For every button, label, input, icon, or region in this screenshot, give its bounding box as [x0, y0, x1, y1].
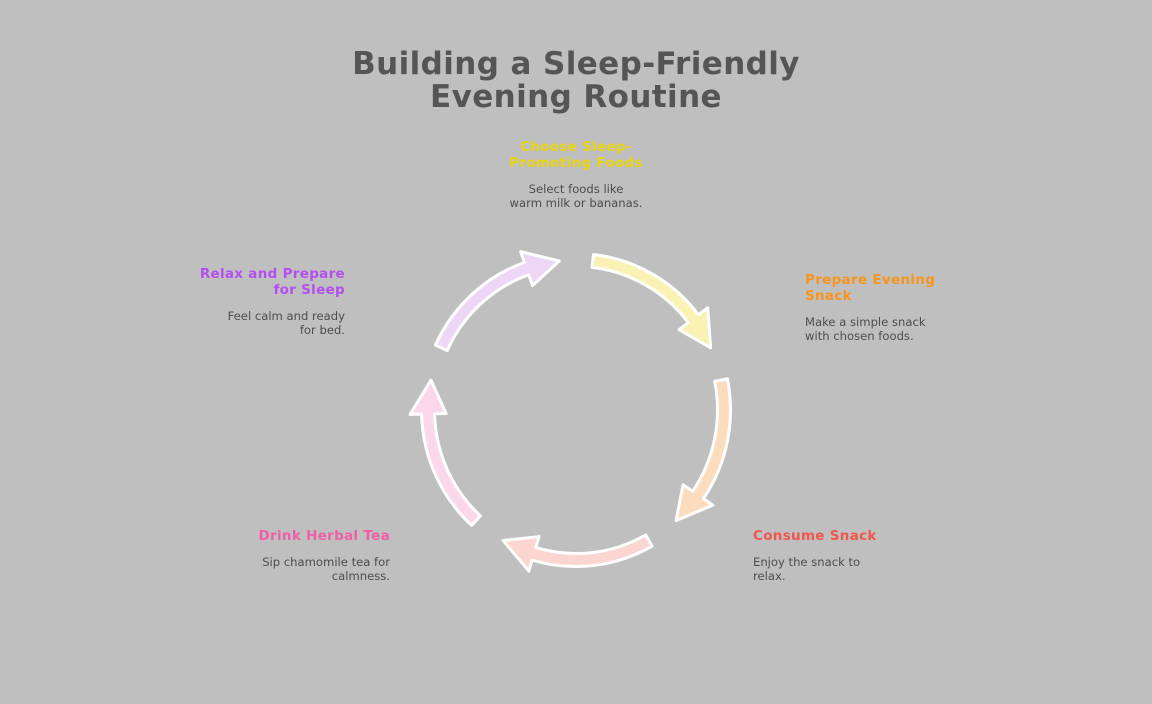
arrow-group — [410, 252, 730, 571]
node-description: Sip chamomile tea for calmness. — [185, 555, 390, 583]
cycle-arrow-drink-herbal-tea — [410, 380, 480, 525]
cycle-arrow-choose-foods — [592, 255, 711, 348]
node-title: Relax and Prepare for Sleep — [155, 267, 345, 299]
cycle-node-choose-foods[interactable]: Choose Sleep- Promoting Foods Select foo… — [466, 140, 686, 210]
node-title: Consume Snack — [753, 529, 928, 545]
cycle-arrow-prepare-snack — [676, 379, 731, 521]
node-title: Drink Herbal Tea — [185, 529, 390, 545]
diagram-canvas: Building a Sleep-Friendly Evening Routin… — [0, 0, 1152, 704]
cycle-node-consume-snack[interactable]: Consume Snack Enjoy the snack to relax. — [753, 529, 928, 583]
cycle-node-relax-prepare-sleep[interactable]: Relax and Prepare for Sleep Feel calm an… — [155, 267, 345, 337]
node-title: Prepare Evening Snack — [805, 273, 975, 305]
cycle-node-drink-herbal-tea[interactable]: Drink Herbal Tea Sip chamomile tea for c… — [185, 529, 390, 583]
cycle-arrows — [0, 0, 1152, 704]
node-description: Select foods like warm milk or bananas. — [466, 182, 686, 210]
cycle-arrow-relax-prepare-sleep — [435, 252, 559, 351]
node-title: Choose Sleep- Promoting Foods — [466, 140, 686, 172]
cycle-arrow-consume-snack — [503, 535, 652, 571]
node-description: Make a simple snack with chosen foods. — [805, 315, 975, 343]
node-description: Feel calm and ready for bed. — [155, 309, 345, 337]
node-description: Enjoy the snack to relax. — [753, 555, 928, 583]
cycle-node-prepare-snack[interactable]: Prepare Evening Snack Make a simple snac… — [805, 273, 975, 343]
